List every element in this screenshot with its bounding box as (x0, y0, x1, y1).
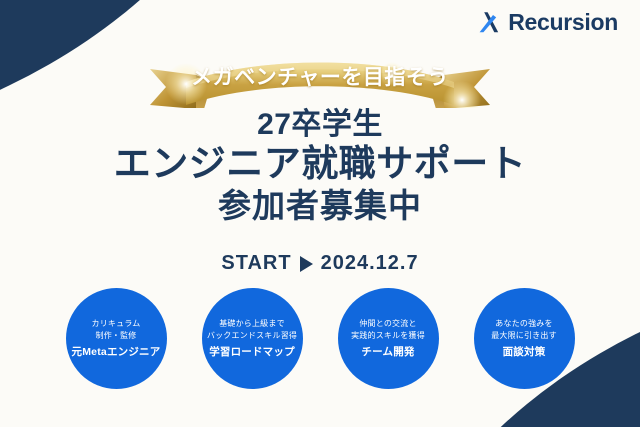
play-triangle-icon (300, 256, 313, 272)
feature-main-3: チーム開発 (361, 344, 414, 359)
feature-circle-2[interactable]: 基礎から上級まで バックエンドスキル習得 学習ロードマップ (202, 288, 303, 389)
feature-main-4: 面談対策 (503, 344, 546, 359)
start-label: START (221, 252, 291, 275)
promo-poster: Recursion (0, 0, 640, 427)
headline-line-3: 参加者募集中 (0, 185, 640, 226)
feature-sub-4a: あなたの強みを (495, 318, 552, 330)
feature-circle-1[interactable]: カリキュラム 制作・監修 元Metaエンジニア (66, 288, 167, 389)
ribbon-banner: メガベンチャーを目指そう (0, 48, 640, 108)
feature-circles: カリキュラム 制作・監修 元Metaエンジニア 基礎から上級まで バックエンドス… (0, 288, 640, 389)
feature-main-1: 元Metaエンジニア (72, 344, 161, 359)
headline-line-2: エンジニア就職サポート (0, 142, 640, 186)
headline-line-1: 27卒学生 (0, 108, 640, 142)
brand-logo[interactable]: Recursion (475, 8, 618, 36)
start-date-line: START 2024.12.7 (0, 252, 640, 275)
ribbon-text: メガベンチャーを目指そう (0, 61, 640, 91)
feature-sub-2a: 基礎から上級まで (219, 318, 285, 330)
feature-sub-1b: 制作・監修 (96, 330, 137, 342)
brand-name: Recursion (508, 11, 618, 34)
feature-sub-1a: カリキュラム (92, 318, 141, 330)
feature-main-2: 学習ロードマップ (209, 344, 295, 359)
recursion-lambda-icon (475, 8, 503, 36)
feature-sub-4b: 最大限に引き出す (491, 330, 557, 342)
feature-circle-4[interactable]: あなたの強みを 最大限に引き出す 面談対策 (474, 288, 575, 389)
start-date: 2024.12.7 (321, 252, 419, 275)
feature-sub-3b: 実践的スキルを獲得 (351, 330, 425, 342)
feature-circle-3[interactable]: 仲間との交流と 実践的スキルを獲得 チーム開発 (338, 288, 439, 389)
headline-block: 27卒学生 エンジニア就職サポート 参加者募集中 (0, 108, 640, 227)
feature-sub-2b: バックエンドスキル習得 (207, 330, 297, 342)
feature-sub-3a: 仲間との交流と (359, 318, 416, 330)
